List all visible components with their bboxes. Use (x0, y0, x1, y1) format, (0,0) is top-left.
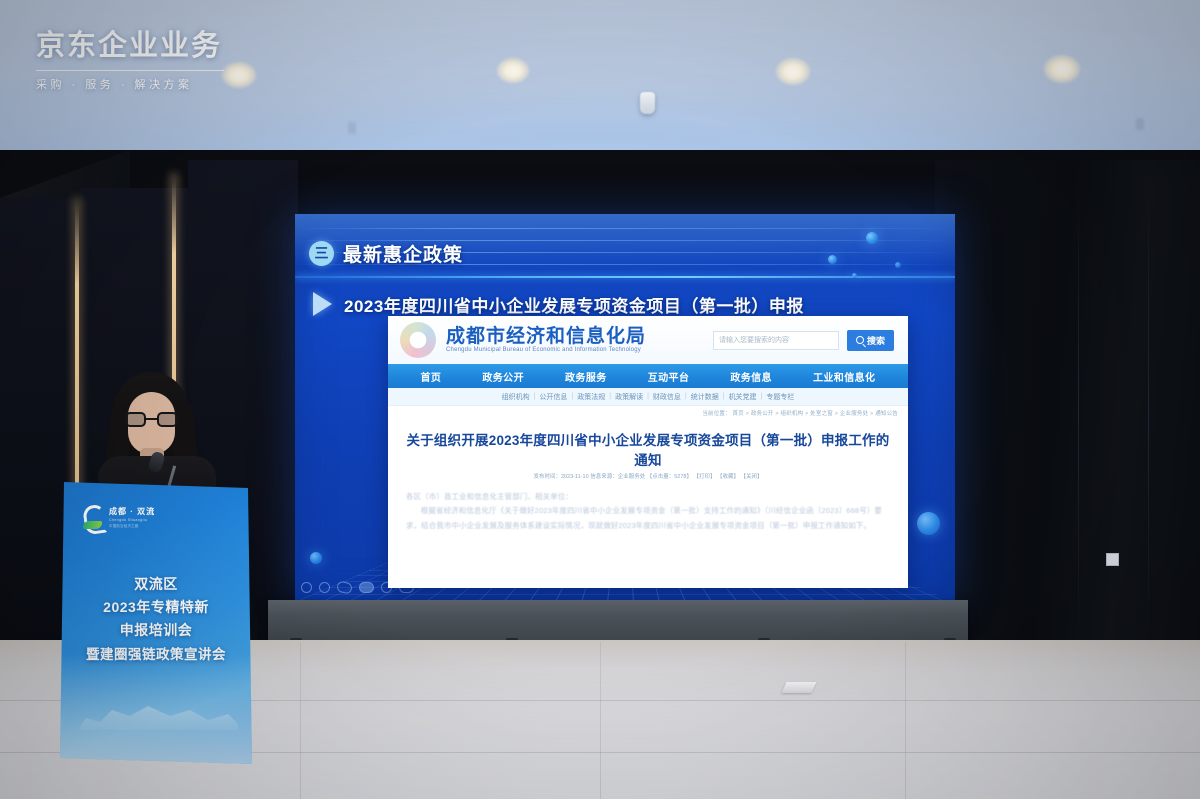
circle-icon (301, 582, 312, 593)
divider: | (723, 393, 725, 400)
podium-line-1: 双流区 (68, 574, 244, 594)
subnav-item-topics[interactable]: 专题专栏 (766, 392, 794, 402)
watermark-brand: 京东企业业务 (36, 22, 224, 64)
diamond-icon (336, 580, 353, 594)
subnav-item-public-info[interactable]: 公开信息 (539, 392, 567, 402)
gov-seal-icon (400, 322, 436, 358)
podium-banner: 成都 · 双流 Chengdu Shuangliu 中国航空经济之都 双流区 2… (60, 482, 252, 764)
smoke-detector-icon (640, 92, 655, 114)
divider: | (647, 393, 649, 400)
led-presentation-screen: 三 最新惠企政策 2023年度四川省中小企业发展专项资金项目（第一批）申报 成都… (295, 214, 955, 602)
government-website-screenshot: 成都市经济和信息化局 Chengdu Municipal Bureau of E… (388, 316, 908, 588)
article-body: 各区（市）县工业和信息化主管部门、相关单位： 根据省经济和信息化厅《关于做好20… (388, 486, 908, 533)
glasses-icon (125, 412, 178, 427)
search-button-label: 搜索 (867, 334, 885, 347)
downlight-icon (222, 62, 256, 88)
downlight-icon (497, 58, 529, 83)
watermark-divider (36, 70, 224, 71)
glasses-lens (157, 412, 178, 427)
watermark: 京东企业业务 采购 · 服务 · 解决方案 (36, 22, 224, 92)
slide-header: 三 最新惠企政策 (295, 232, 955, 274)
podium-logo-tagline: 中国航空经济之都 (109, 523, 155, 528)
article-paragraph: 根据省经济和信息化厅《关于做好2023年度四川省中小企业发展专项资金（第一批）支… (406, 504, 890, 533)
conference-photo-scene: 三 最新惠企政策 2023年度四川省中小企业发展专项资金项目（第一批）申报 成都… (0, 0, 1200, 799)
divider: | (534, 393, 536, 400)
wall-seam (1078, 175, 1079, 645)
site-header: 成都市经济和信息化局 Chengdu Municipal Bureau of E… (388, 316, 908, 364)
podium-sky-graphic (60, 654, 252, 764)
wall-panel (0, 198, 72, 670)
podium-logo-cn: 成都 · 双流 (109, 506, 155, 517)
watermark-tagline: 采购 · 服务 · 解决方案 (36, 76, 224, 92)
site-title-en: Chengdu Municipal Bureau of Economic and… (446, 347, 646, 353)
floor-socket-cover-icon (782, 682, 817, 693)
podium-line-3: 申报培训会 (68, 620, 244, 640)
slide-header-title: 最新惠企政策 (343, 240, 463, 267)
search-input[interactable]: 请输入您要搜索的内容 (713, 331, 839, 350)
decor-line (295, 228, 955, 229)
article-title: 关于组织开展2023年度四川省中小企业发展专项资金项目（第一批）申报工作的通知 (388, 420, 908, 472)
glasses-bridge (146, 418, 157, 420)
ceiling-vent-icon (1136, 118, 1144, 130)
glasses-lens (125, 412, 146, 427)
play-triangle-icon (313, 292, 332, 316)
site-branding: 成都市经济和信息化局 Chengdu Municipal Bureau of E… (446, 327, 646, 354)
downlight-icon (776, 58, 810, 85)
subnav-item-statistics[interactable]: 统计数据 (691, 392, 719, 402)
subnav-item-org[interactable]: 组织机构 (502, 392, 530, 402)
site-search-area: 请输入您要搜索的内容 搜索 (713, 330, 894, 351)
site-main-nav: 首页 政务公开 政务服务 互动平台 政务信息 工业和信息化 (388, 364, 908, 388)
decor-dot (917, 512, 940, 535)
subnav-item-regulations[interactable]: 政策法规 (577, 392, 605, 402)
nav-item-industry-it[interactable]: 工业和信息化 (813, 369, 875, 384)
menu-badge-icon: 三 (309, 241, 334, 266)
nav-item-home[interactable]: 首页 (421, 369, 442, 384)
nav-item-affairs-info[interactable]: 政务信息 (730, 369, 772, 384)
podium-line-4: 暨建圈强链政策宣讲会 (68, 643, 244, 663)
breadcrumb: 当前位置： 首页 > 政务公开 > 组织机构 > 处室之窗 > 企业服务处 > … (388, 406, 908, 420)
podium-logo-text: 成都 · 双流 Chengdu Shuangliu 中国航空经济之都 (109, 506, 155, 528)
floor-seam (600, 642, 601, 799)
magnifier-icon (856, 336, 864, 344)
subnav-item-party[interactable]: 机关党建 (729, 392, 757, 402)
nav-item-affairs-open[interactable]: 政务公开 (482, 369, 524, 384)
slide-subtitle: 2023年度四川省中小企业发展专项资金项目（第一批）申报 (344, 292, 804, 317)
search-button[interactable]: 搜索 (847, 330, 894, 351)
floor-seam (905, 642, 906, 799)
nav-item-affairs-service[interactable]: 政务服务 (565, 369, 607, 384)
nav-item-interactive[interactable]: 互动平台 (648, 369, 690, 384)
article-paragraph: 各区（市）县工业和信息化主管部门、相关单位： (406, 490, 890, 504)
site-title-cn: 成都市经济和信息化局 (446, 327, 646, 347)
podium-logo-en: Chengdu Shuangliu (109, 518, 155, 522)
subnav-item-interpretation[interactable]: 政策解读 (615, 392, 643, 402)
search-placeholder: 请输入您要搜索的内容 (719, 335, 789, 345)
decor-dot (310, 552, 322, 564)
wall-seam (1148, 175, 1149, 645)
downlight-icon (1044, 55, 1080, 83)
divider: | (761, 393, 763, 400)
divider: | (571, 393, 573, 400)
divider: | (685, 393, 687, 400)
shuangliu-s-icon (82, 504, 104, 530)
divider: | (609, 393, 611, 400)
ceiling-vent-icon (348, 122, 356, 134)
article-meta: 发布时间：2023-11-10 信息来源：企业服务处 【点击量：5278】 【打… (388, 472, 908, 486)
capsule-icon (359, 582, 374, 593)
circle-icon (319, 582, 330, 593)
floor-seam (300, 642, 301, 799)
subnav-item-finance[interactable]: 财政信息 (653, 392, 681, 402)
right-wall (935, 160, 1200, 665)
wall-outlet-icon (1106, 553, 1119, 566)
podium-event-title: 双流区 2023年专精特新 申报培训会 暨建圈强链政策宣讲会 (60, 574, 252, 663)
stage-base (268, 600, 968, 642)
podium-logo: 成都 · 双流 Chengdu Shuangliu 中国航空经济之都 (82, 504, 155, 530)
site-sub-nav: 组织机构| 公开信息| 政策法规| 政策解读| 财政信息| 统计数据| 机关党建… (388, 388, 908, 406)
podium-line-2: 2023年专精特新 (68, 597, 244, 617)
